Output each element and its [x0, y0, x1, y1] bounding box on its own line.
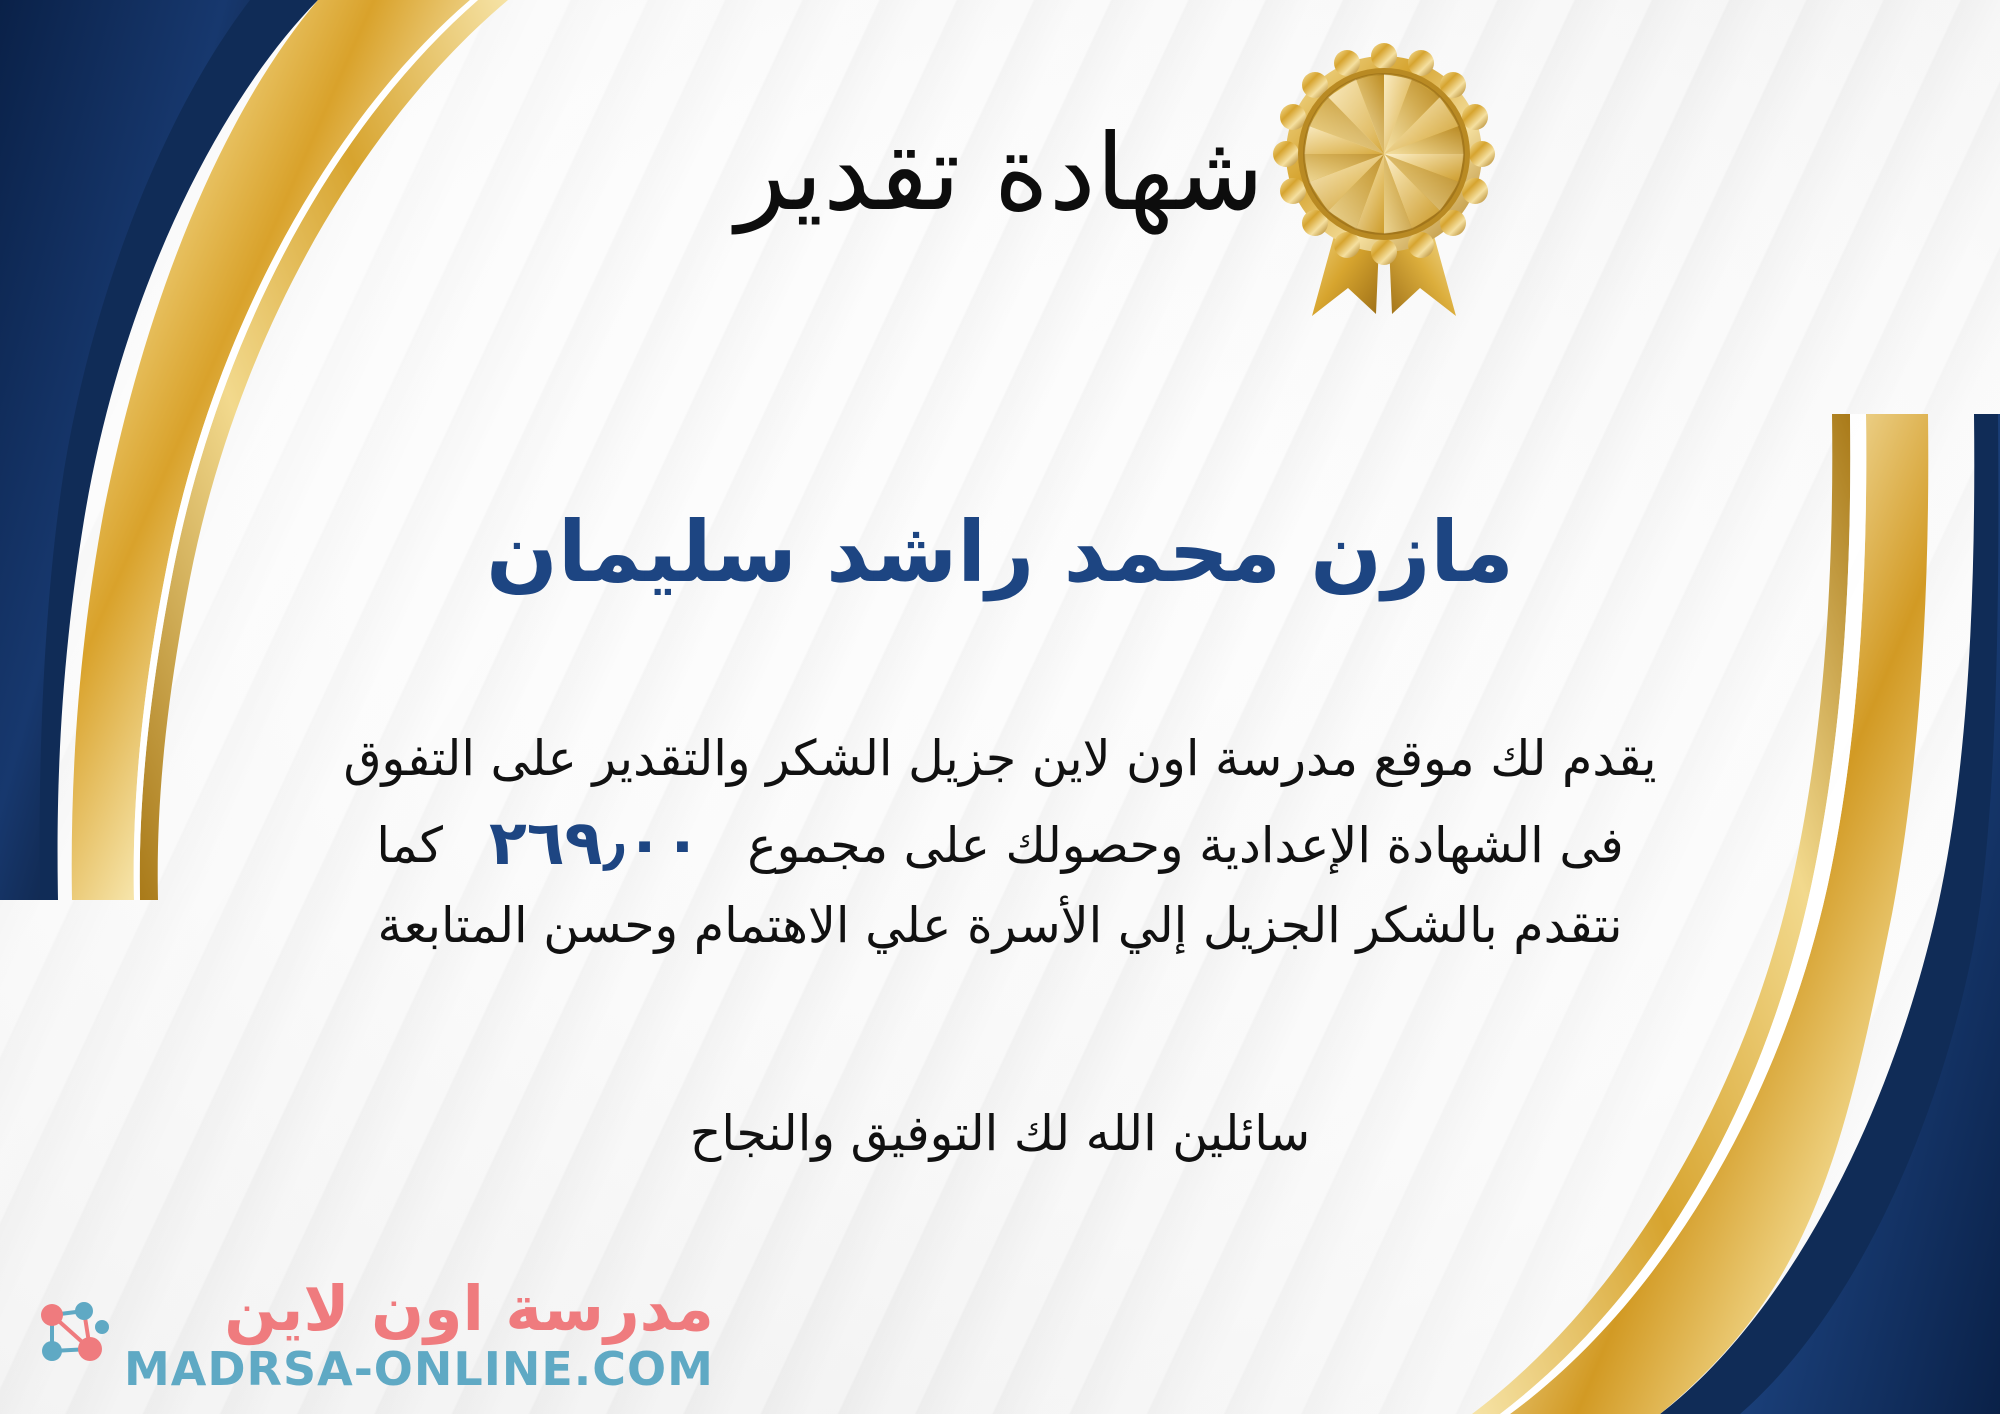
certificate-body: يقدم لك موقع مدرسة اون لاين جزيل الشكر و… — [0, 722, 2000, 962]
body-line-2-prefix: فى الشهادة الإعدادية وحصولك على مجموع — [747, 817, 1623, 874]
body-line-2: فى الشهادة الإعدادية وحصولك على مجموع٢٦٩… — [70, 796, 1930, 889]
body-line-1: يقدم لك موقع مدرسة اون لاين جزيل الشكر و… — [70, 722, 1930, 796]
brand-arabic-name: مدرسة اون لاين — [224, 1278, 714, 1340]
body-line-2-suffix: كما — [376, 817, 443, 874]
brand-text-group: مدرسة اون لاين MADRSA-ONLINE.COM — [124, 1278, 714, 1392]
brand-url: MADRSA-ONLINE.COM — [124, 1346, 714, 1392]
body-line-3: نتقدم بالشكر الجزيل إلي الأسرة علي الاهت… — [70, 889, 1930, 963]
closing-wish: سائلين الله لك التوفيق والنجاح — [0, 1100, 2000, 1169]
recipient-name: مازن محمد راشد سليمان — [0, 505, 2000, 599]
brand-logo[interactable]: مدرسة اون لاين MADRSA-ONLINE.COM — [22, 1278, 714, 1392]
certificate-canvas: شهادة تقدير مازن محمد راشد سليمان يقدم ل… — [0, 0, 2000, 1414]
network-nodes-icon — [22, 1289, 114, 1381]
page-title: شهادة تقدير — [0, 118, 2000, 228]
score-value: ٢٦٩٫٠٠ — [443, 806, 747, 879]
